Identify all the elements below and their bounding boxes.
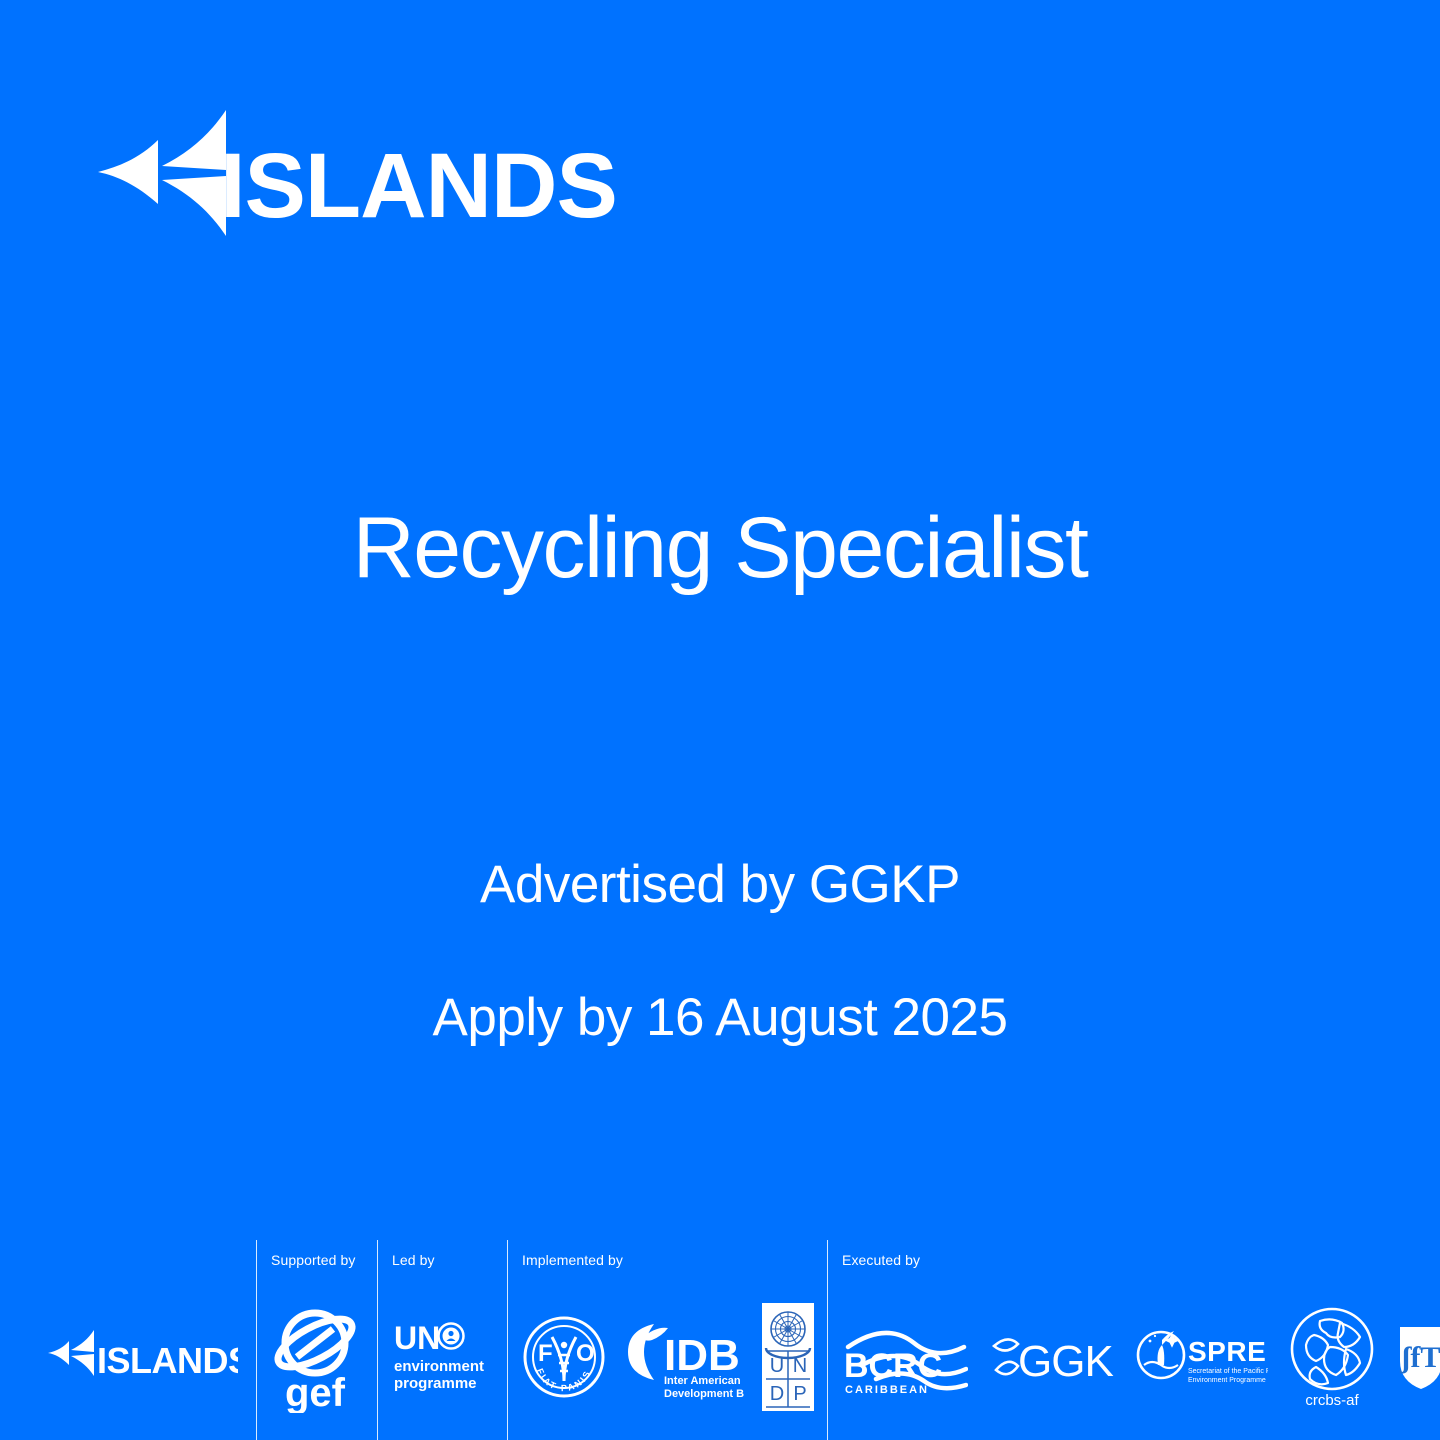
footer-label-led-by: Led by xyxy=(378,1240,507,1274)
crcbs-af-logo: crcbs-af xyxy=(1290,1305,1374,1409)
svg-text:N: N xyxy=(793,1355,807,1377)
svg-text:U: U xyxy=(770,1355,784,1377)
sprep-logo: SPREP Secretariat of the Pacific Regiona… xyxy=(1136,1321,1268,1393)
gef-logo: gef xyxy=(271,1301,359,1413)
svg-text:IDB: IDB xyxy=(664,1331,740,1380)
footer-label-supported-by: Supported by xyxy=(257,1240,377,1274)
footer-label-islands xyxy=(28,1240,256,1274)
svg-text:CARIBBEAN: CARIBBEAN xyxy=(845,1384,929,1396)
islands-brand-header: ISLANDS xyxy=(98,108,617,236)
svg-text:P: P xyxy=(793,1383,806,1405)
footer-group-executed-by: Executed by BCRC CARIBBEAN xyxy=(827,1240,1440,1440)
footer-label-implemented-by: Implemented by xyxy=(508,1240,827,1274)
islands-wordmark: ISLANDS xyxy=(220,140,617,232)
islands-logo: ISLANDS xyxy=(48,1329,238,1385)
svg-text:SPREP: SPREP xyxy=(1188,1336,1268,1367)
footer-group-islands: ISLANDS xyxy=(28,1240,256,1440)
job-title: Recycling Specialist xyxy=(80,500,1360,596)
svg-text:GGKP: GGKP xyxy=(1018,1337,1114,1386)
svg-text:Development Bank: Development Bank xyxy=(664,1388,744,1400)
svg-text:ʃfT: ʃfT xyxy=(1399,1341,1440,1374)
svg-text:gef: gef xyxy=(285,1371,346,1413)
svg-text:F: F xyxy=(538,1340,553,1367)
undp-logo: U N D P xyxy=(762,1303,814,1411)
islands-sails-icon xyxy=(98,108,226,236)
svg-text:ISLANDS: ISLANDS xyxy=(97,1340,238,1381)
tecnico-lisboa-logo: ʃfT TÉCNICO LISBOA xyxy=(1396,1321,1440,1393)
svg-text:O: O xyxy=(576,1340,595,1367)
idb-logo: IDB Inter American Development Bank xyxy=(624,1314,744,1400)
svg-text:Inter American: Inter American xyxy=(664,1375,741,1387)
deadline-line: Apply by 16 August 2025 xyxy=(80,987,1360,1048)
unep-logo: UN environment programme xyxy=(392,1319,496,1395)
svg-text:environment: environment xyxy=(394,1358,484,1375)
svg-text:BCRC: BCRC xyxy=(844,1347,942,1385)
footer-group-led-by: Led by UN environment progr xyxy=(377,1240,507,1440)
footer-group-implemented-by: Implemented by F O xyxy=(507,1240,827,1440)
svg-text:Secretariat of the Pacific Reg: Secretariat of the Pacific Regional xyxy=(1188,1368,1268,1375)
partner-footer: ISLANDS Supported by xyxy=(0,1240,1440,1440)
svg-text:UN: UN xyxy=(394,1320,440,1356)
svg-text:D: D xyxy=(770,1383,784,1405)
job-announcement-card: ISLANDS Recycling Specialist Advertised … xyxy=(0,0,1440,1440)
main-content: Recycling Specialist Advertised by GGKP … xyxy=(0,500,1440,1048)
ggkp-logo: GGKP xyxy=(990,1326,1114,1388)
footer-label-executed-by: Executed by xyxy=(828,1240,1440,1274)
bcrc-logo: BCRC CARIBBEAN xyxy=(842,1313,968,1401)
svg-text:crcbs-af: crcbs-af xyxy=(1305,1392,1359,1409)
advertiser-line: Advertised by GGKP xyxy=(80,854,1360,915)
footer-group-supported-by: Supported by gef xyxy=(256,1240,377,1440)
fao-logo: F O FIAT PANIS xyxy=(522,1315,606,1399)
svg-text:programme: programme xyxy=(394,1375,477,1392)
svg-text:Environment Programme: Environment Programme xyxy=(1188,1377,1266,1384)
